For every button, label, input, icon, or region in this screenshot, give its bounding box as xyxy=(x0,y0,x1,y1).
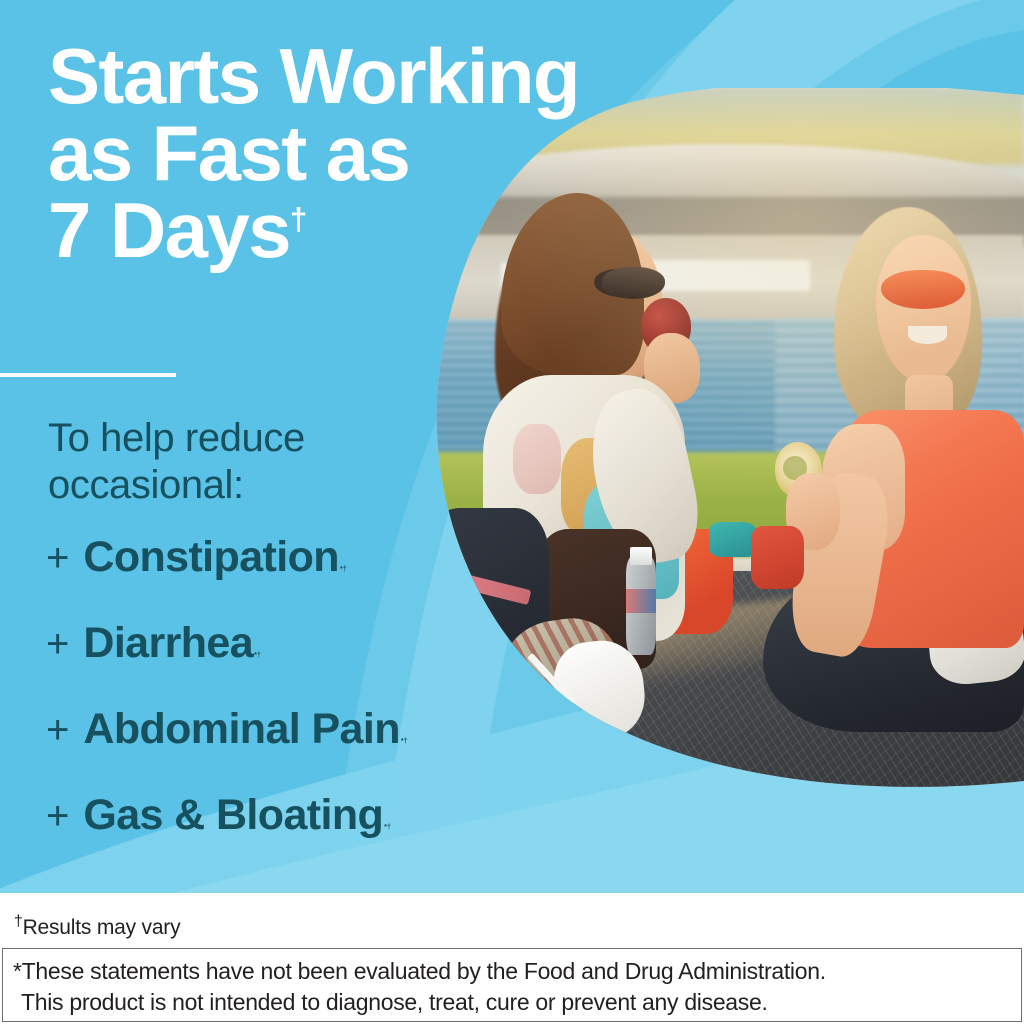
benefits-list: + Constipation*† + Diarrhea*† + Abdomina… xyxy=(46,536,516,880)
plus-icon: + xyxy=(46,710,69,750)
benefit-label: Gas & Bloating xyxy=(83,794,383,837)
headline-line-2: as Fast as xyxy=(48,115,708,192)
benefit-item-abdominal-pain: + Abdominal Pain*† xyxy=(46,708,516,751)
hero-panel: Starts Working as Fast as 7 Days† To hel… xyxy=(0,0,1024,893)
headline-line-3: 7 Days† xyxy=(48,192,708,269)
benefit-superscript: *† xyxy=(340,564,347,573)
benefit-label: Constipation xyxy=(83,536,339,579)
headline-divider xyxy=(0,373,176,377)
benefit-label: Abdominal Pain xyxy=(83,708,400,751)
benefit-item-gas-bloating: + Gas & Bloating*† xyxy=(46,794,516,837)
subhead: To help reduce occasional: xyxy=(48,415,378,509)
plus-icon: + xyxy=(46,538,69,578)
plus-icon: + xyxy=(46,796,69,836)
benefit-item-constipation: + Constipation*† xyxy=(46,536,516,579)
subhead-line-2: occasional: xyxy=(48,463,244,507)
headline-line-1: Starts Working xyxy=(48,38,708,115)
benefit-superscript: *† xyxy=(384,822,391,831)
headline-dagger: † xyxy=(290,202,307,237)
benefit-item-diarrhea: + Diarrhea*† xyxy=(46,622,516,665)
fda-disclaimer-box: *These statements have not been evaluate… xyxy=(2,948,1022,1022)
fda-line-1: *These statements have not been evaluate… xyxy=(13,956,1011,987)
benefit-superscript: *† xyxy=(401,736,408,745)
advertisement-creative: Starts Working as Fast as 7 Days† To hel… xyxy=(0,0,1024,1024)
results-dagger: † xyxy=(14,913,23,930)
plus-icon: + xyxy=(46,624,69,664)
results-may-vary-note: †Results may vary xyxy=(14,913,180,940)
benefit-superscript: *† xyxy=(254,650,261,659)
results-text: Results may vary xyxy=(23,916,181,939)
headline: Starts Working as Fast as 7 Days† xyxy=(48,38,708,270)
footer-disclaimers: †Results may vary *These statements have… xyxy=(0,893,1024,1024)
subhead-line-1: To help reduce xyxy=(48,416,305,460)
benefit-label: Diarrhea xyxy=(83,622,253,665)
headline-line-3-text: 7 Days xyxy=(48,186,290,274)
fda-line-2: This product is not intended to diagnose… xyxy=(13,987,1011,1018)
